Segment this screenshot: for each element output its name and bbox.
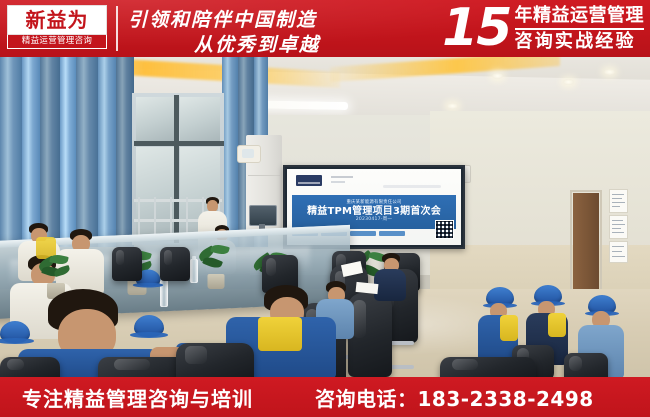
experience-text: 年精益运营管理 咨询实战经验 (515, 5, 645, 53)
slogan-line-1: 引领和陪伴中国制造 (128, 5, 317, 32)
logo-name-box: 新益为 (7, 5, 107, 35)
slide-logo-icon (296, 175, 322, 186)
slogan-line-2: 从优秀到卓越 (194, 30, 320, 57)
logo-tagline-box: 精益运营管理咨询 (7, 35, 107, 49)
qr-code-icon (435, 220, 454, 239)
footer-left-text: 专注精益管理咨询与培训 (22, 383, 253, 412)
slide-watermark (383, 185, 441, 188)
safety-vest (500, 315, 518, 341)
experience-line-2: 咨询实战经验 (515, 31, 645, 53)
potted-plant (196, 243, 236, 289)
downlight-icon (563, 79, 574, 85)
experience-line-1: 年精益运营管理 (515, 5, 645, 27)
desktop-monitor (249, 205, 277, 226)
logo-name-text: 新益为 (26, 10, 89, 30)
slide-agenda-tab (379, 231, 405, 236)
experience-number: 15 (442, 2, 514, 54)
meeting-room-photo: 重庆某新能源有限责任公司 精益TPM管理项目3期首次会 20230417-周一 (0, 57, 650, 377)
wall-poster (609, 215, 628, 239)
slide-meta-line (331, 176, 353, 178)
safety-vest (258, 317, 302, 351)
water-bottle (190, 259, 198, 283)
banner-divider (116, 6, 118, 51)
office-chair (0, 357, 60, 377)
safety-helmet (134, 315, 164, 337)
attendee-body (374, 269, 406, 301)
office-chair (564, 353, 608, 377)
footer-banner: 专注精益管理咨询与培训 咨询电话：183-2338-2498 (0, 377, 650, 417)
wall-poster (609, 241, 628, 263)
office-chair (176, 343, 254, 377)
downlight-icon (604, 69, 615, 75)
logo-tagline-text: 精益运营管理咨询 (22, 37, 92, 46)
wall-clock-icon (237, 145, 261, 163)
wall-poster (609, 189, 628, 213)
slide-meta-line (331, 181, 345, 183)
experience-block: 15 年精益运营管理 咨询实战经验 (442, 0, 644, 57)
office-chair (112, 247, 142, 281)
paper-document (356, 282, 379, 294)
experience-rule (515, 28, 645, 30)
downlight-icon (447, 103, 458, 109)
slide-date: 20230417-周一 (356, 218, 392, 223)
office-chair (160, 247, 190, 281)
window-transom (134, 141, 224, 146)
slide-title-band: 重庆某新能源有限责任公司 精益TPM管理项目3期首次会 20230417-周一 (292, 195, 456, 229)
safety-helmet (0, 321, 30, 343)
window-pane (136, 97, 174, 141)
downlight-icon (492, 73, 503, 79)
office-chair (348, 293, 392, 377)
company-logo: 新益为 精益运营管理咨询 (7, 5, 107, 52)
window-pane (180, 97, 220, 141)
promotional-banner-image: 新益为 精益运营管理咨询 引领和陪伴中国制造 从优秀到卓越 15 年精益运营管理… (0, 0, 650, 417)
safety-vest (548, 313, 566, 337)
office-chair (440, 357, 536, 377)
banner-slogan: 引领和陪伴中国制造 从优秀到卓越 (128, 4, 378, 54)
header-banner: 新益为 精益运营管理咨询 引领和陪伴中国制造 从优秀到卓越 15 年精益运营管理… (0, 0, 650, 57)
footer-contact-phone: 咨询电话：183-2338-2498 (315, 383, 594, 412)
slide-agenda-tab (350, 231, 376, 236)
